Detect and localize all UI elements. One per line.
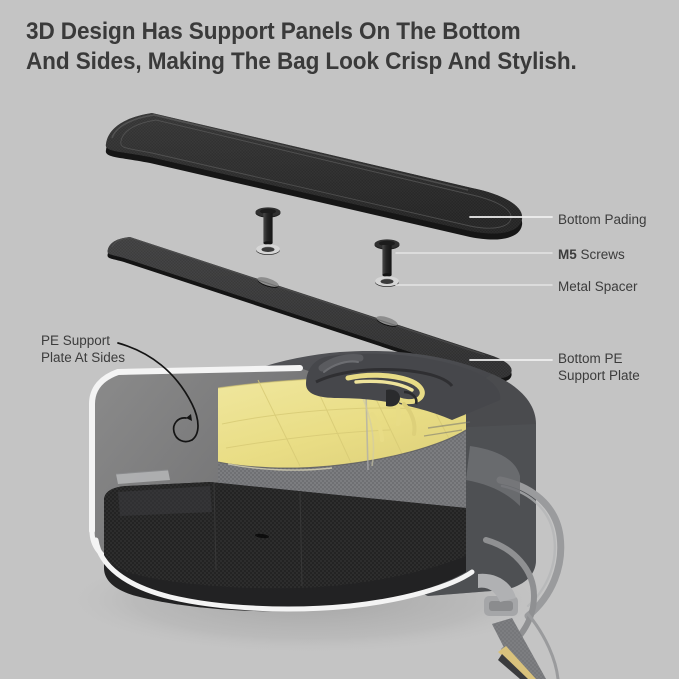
part-m5-screw-left: [256, 207, 281, 244]
callout-label-m5-screws: M5 Screws: [558, 246, 625, 263]
callout-label-metal-spacer: Metal Spacer: [558, 278, 638, 295]
part-metal-spacer-left: [256, 244, 280, 255]
part-m5-screw-right: [375, 239, 400, 276]
callout-label-m5-rest: Screws: [577, 247, 625, 262]
callout-label-pe-support-at-sides: PE Support Plate At Sides: [41, 332, 125, 366]
callout-label-bottom-padding: Bottom Pading: [558, 211, 647, 228]
callout-label-m5-bold: M5: [558, 247, 577, 262]
part-bottom-padding: [106, 113, 522, 240]
infographic-canvas: 3D Design Has Support Panels On The Bott…: [0, 0, 679, 679]
callout-label-bottom-pe-support-plate: Bottom PE Support Plate: [558, 350, 640, 384]
